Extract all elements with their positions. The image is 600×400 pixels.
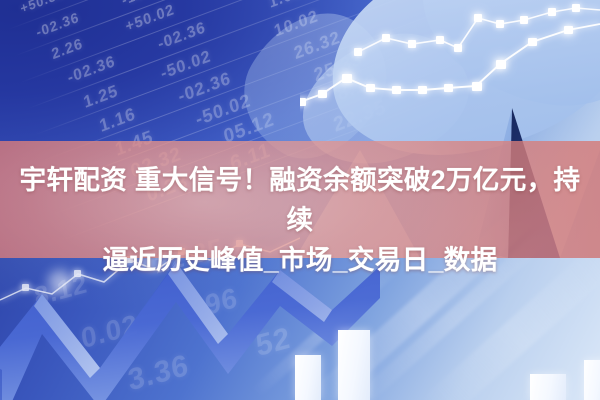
headline-line-1: 宇轩配资 重大信号！融资余额突破2万亿元，持续: [10, 160, 590, 240]
bar-3: [530, 374, 566, 400]
headline-line-2: 逼近历史峰值_市场_交易日_数据: [10, 240, 590, 280]
page-title: 宇轩配资 重大信号！融资余额突破2万亿元，持续 逼近历史峰值_市场_交易日_数据: [0, 160, 600, 280]
news-banner-image: +50.35-11.2521.06-02.36-11.2545.022.26+5…: [0, 0, 600, 400]
bar-2: [338, 330, 370, 400]
bar-4: [584, 360, 600, 400]
bar-1: [295, 355, 321, 400]
